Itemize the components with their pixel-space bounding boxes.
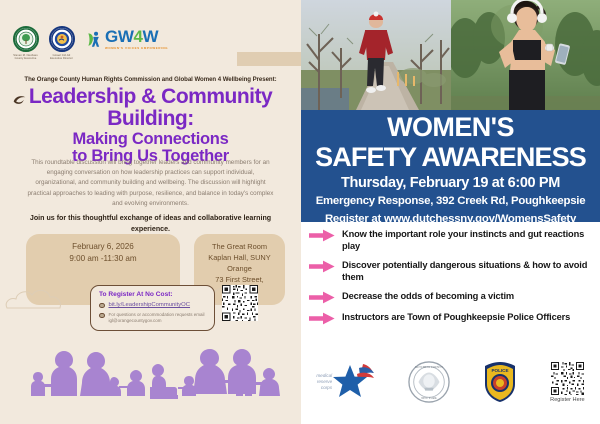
gw4w-word-w: W xyxy=(143,27,159,46)
orange-county-seal-icon xyxy=(13,26,39,52)
arrow-right-icon xyxy=(309,312,335,325)
left-flyer-body-copy: This roundtable discussion will bring to… xyxy=(27,158,274,209)
register-here-qr-block[interactable]: Register Here xyxy=(550,362,585,403)
register-here-label: Register Here xyxy=(550,397,585,403)
register-prefix: Register at xyxy=(325,213,384,225)
right-flyer: WOMEN'S SAFETY AWARENESS Thursday, Febru… xyxy=(301,0,600,424)
human-rights-commission-seal-icon xyxy=(49,26,75,52)
bullet-text: Instructors are Town of Poughkeepsie Pol… xyxy=(342,311,570,323)
bullet-text: Discover potentially dangerous situation… xyxy=(342,259,594,283)
benefit-bullet-list: Know the important role your instincts a… xyxy=(309,228,594,332)
left-flyer: Steven M. Neuhaus County Executive Ismae… xyxy=(0,0,301,424)
photo-woman-smartwatch xyxy=(451,0,600,110)
title-line-1: Leadership & Community xyxy=(10,86,291,108)
flyer-pair-canvas: Steven M. Neuhaus County Executive Ismae… xyxy=(0,0,600,424)
list-item: Know the important role your instincts a… xyxy=(309,228,594,252)
registration-link-row[interactable]: bit.ly/LeadershipCommunityOC xyxy=(99,302,206,309)
gw4w-mark-icon xyxy=(86,30,103,49)
join-invitation-line: Join us for this thoughtful exchange of … xyxy=(25,213,276,234)
cloud-decoration-left-icon xyxy=(4,276,99,316)
photo-band xyxy=(301,0,600,110)
partner-logo-strip: medical reserve corps DUTCHESS COUNTY xyxy=(301,356,600,408)
headline-line-2: SAFETY AWARENESS xyxy=(301,143,600,171)
registration-qr-code[interactable] xyxy=(222,285,258,321)
list-item: Discover potentially dangerous situation… xyxy=(309,259,594,283)
orange-county-seal-caption: Steven M. Neuhaus County Executive xyxy=(12,54,39,60)
headline-line-1: WOMEN'S xyxy=(301,113,600,143)
arrow-right-icon xyxy=(309,291,335,304)
police-badge-label: POLICE xyxy=(492,368,509,373)
hrc-seal-caption: Ismael Cid-Gil Executive Director xyxy=(48,54,75,60)
bullet-dot-icon xyxy=(99,313,105,319)
list-item: Instructors are Town of Poughkeepsie Pol… xyxy=(309,311,594,325)
venue-building: Kaplan Hall, SUNY Orange xyxy=(198,252,281,274)
arrow-right-icon xyxy=(309,260,335,273)
medical-reserve-corps-logo: medical reserve corps xyxy=(316,362,375,402)
safety-headline-band: WOMEN'S SAFETY AWARENESS Thursday, Febru… xyxy=(301,110,600,222)
photo-woman-jogging xyxy=(301,0,451,110)
event-address: Emergency Response, 392 Creek Rd, Poughk… xyxy=(301,195,600,209)
title-line-3: Making Connections xyxy=(10,131,291,148)
gw4w-tagline: WOMEN'S VOICES EMPOWERING xyxy=(105,46,168,50)
mrc-label-3: corps xyxy=(316,385,332,391)
left-logo-row: Steven M. Neuhaus County Executive Ismae… xyxy=(12,26,168,60)
list-item: Decrease the odds of becoming a victim xyxy=(309,290,594,304)
orange-county-seal-block: Steven M. Neuhaus County Executive xyxy=(12,26,39,60)
mrc-star-icon xyxy=(333,362,375,402)
police-badge-logo: POLICE xyxy=(483,361,517,403)
registration-title: To Register At No Cost: xyxy=(99,291,206,298)
registration-link[interactable]: bit.ly/LeadershipCommunityOC xyxy=(109,302,191,309)
bullet-dot-icon xyxy=(99,303,105,309)
event-date-time: Thursday, February 19 at 6:00 PM xyxy=(301,175,600,192)
event-date: February 6, 2026 xyxy=(30,241,176,253)
register-line: Register at www.dutchessny.gov/WomensSaf… xyxy=(301,213,600,227)
arrow-right-icon xyxy=(309,229,335,242)
registration-note-row: For questions or accommodation requests … xyxy=(99,312,206,324)
svg-text:DUTCHESS COUNTY: DUTCHESS COUNTY xyxy=(415,365,444,369)
svg-text:NEW YORK: NEW YORK xyxy=(421,396,437,400)
register-here-qr[interactable] xyxy=(551,362,584,395)
family-silhouettes-illustration xyxy=(0,340,301,424)
bullet-text: Decrease the odds of becoming a victim xyxy=(342,290,514,302)
decorative-tan-tab xyxy=(237,52,301,66)
bullet-text: Know the important role your instincts a… xyxy=(342,228,594,252)
registration-note: For questions or accommodation requests … xyxy=(109,312,207,324)
presenter-line: The Orange County Human Rights Commissio… xyxy=(0,76,301,83)
left-flyer-title: Leadership & Community Building: Making … xyxy=(10,86,291,165)
registration-card: To Register At No Cost: bit.ly/Leadershi… xyxy=(90,285,215,331)
venue-name: The Great Room xyxy=(198,241,281,252)
register-url[interactable]: www.dutchessny.gov/WomensSafety xyxy=(384,213,576,225)
event-time: 9:00 am -11:30 am xyxy=(30,253,176,265)
dutchess-county-seal: DUTCHESS COUNTY NEW YORK xyxy=(408,361,450,403)
title-line-2: Building: xyxy=(10,108,291,130)
hrc-seal-block: Ismael Cid-Gil Executive Director xyxy=(48,26,75,60)
gw4w-word-4: 4 xyxy=(133,27,142,46)
mrc-label-2: reserve xyxy=(316,379,332,385)
gw4w-logo: GW4W WOMEN'S VOICES EMPOWERING xyxy=(86,28,168,50)
gw4w-word-gw: GW xyxy=(105,27,133,46)
